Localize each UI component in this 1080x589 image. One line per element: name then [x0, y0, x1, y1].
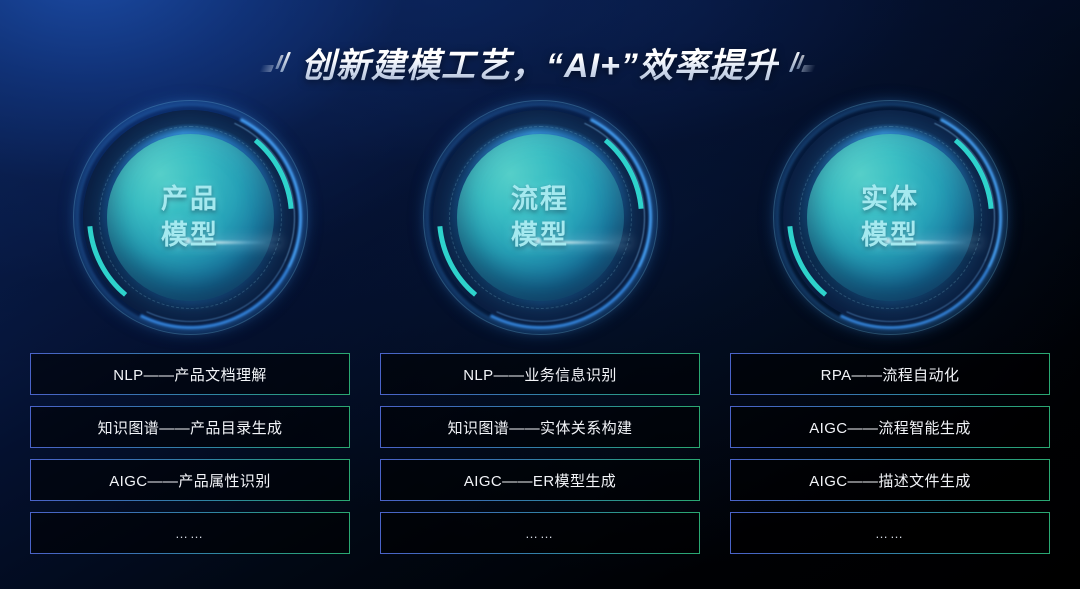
list-item-label: NLP——业务信息识别: [463, 364, 617, 385]
badge-label-line2: 模型: [161, 218, 219, 254]
sphere-process-model: 流程 模型: [457, 134, 624, 301]
list-item-label: NLP——产品文档理解: [113, 364, 267, 385]
list-item-label: 知识图谱——实体关系构建: [448, 417, 633, 438]
list-item-label: ……: [175, 526, 205, 541]
list-item[interactable]: NLP——业务信息识别: [380, 353, 700, 395]
item-list-process-model: NLP——业务信息识别 知识图谱——实体关系构建 AIGC——ER模型生成 ……: [380, 353, 700, 554]
list-item[interactable]: AIGC——产品属性识别: [30, 459, 350, 501]
list-item[interactable]: AIGC——ER模型生成: [380, 459, 700, 501]
list-item-more[interactable]: ……: [30, 512, 350, 554]
list-item-label: AIGC——流程智能生成: [809, 417, 970, 438]
column-product-model: 产品 模型 NLP——产品文档理解 知识图谱——产品目录生成 AIGC——产品属…: [30, 100, 350, 554]
list-item-label: AIGC——ER模型生成: [464, 470, 616, 491]
badge-process-model[interactable]: 流程 模型: [423, 100, 658, 335]
badge-label-line2: 模型: [511, 218, 569, 254]
list-item-label: AIGC——描述文件生成: [809, 470, 970, 491]
page-title: 创新建模工艺，“AI+”效率提升: [301, 38, 779, 87]
title-row: 创新建模工艺，“AI+”效率提升: [0, 34, 1080, 90]
badge-label-line1: 流程: [511, 182, 569, 218]
column-process-model: 流程 模型 NLP——业务信息识别 知识图谱——实体关系构建 AIGC——ER模…: [380, 100, 700, 554]
title-decoration-left-icon: [263, 49, 287, 75]
item-list-product-model: NLP——产品文档理解 知识图谱——产品目录生成 AIGC——产品属性识别 ……: [30, 353, 350, 554]
badge-entity-model[interactable]: 实体 模型: [773, 100, 1008, 335]
list-item[interactable]: AIGC——流程智能生成: [730, 406, 1050, 448]
columns-container: 产品 模型 NLP——产品文档理解 知识图谱——产品目录生成 AIGC——产品属…: [0, 100, 1080, 554]
badge-label-line2: 模型: [861, 218, 919, 254]
list-item[interactable]: RPA——流程自动化: [730, 353, 1050, 395]
list-item-label: RPA——流程自动化: [821, 364, 960, 385]
column-entity-model: 实体 模型 RPA——流程自动化 AIGC——流程智能生成 AIGC——描述文件…: [730, 100, 1050, 554]
list-item[interactable]: 知识图谱——实体关系构建: [380, 406, 700, 448]
title-decoration-right-icon: [793, 49, 817, 75]
list-item[interactable]: NLP——产品文档理解: [30, 353, 350, 395]
badge-product-model[interactable]: 产品 模型: [73, 100, 308, 335]
list-item-more[interactable]: ……: [730, 512, 1050, 554]
list-item-label: 知识图谱——产品目录生成: [98, 417, 283, 438]
list-item[interactable]: AIGC——描述文件生成: [730, 459, 1050, 501]
list-item-label: AIGC——产品属性识别: [109, 470, 270, 491]
slide-canvas: 创新建模工艺，“AI+”效率提升 产品 模型 NLP——产: [0, 0, 1080, 589]
sphere-product-model: 产品 模型: [107, 134, 274, 301]
list-item-label: ……: [525, 526, 555, 541]
sphere-entity-model: 实体 模型: [807, 134, 974, 301]
list-item-label: ……: [875, 526, 905, 541]
list-item-more[interactable]: ……: [380, 512, 700, 554]
item-list-entity-model: RPA——流程自动化 AIGC——流程智能生成 AIGC——描述文件生成 ……: [730, 353, 1050, 554]
list-item[interactable]: 知识图谱——产品目录生成: [30, 406, 350, 448]
badge-label-line1: 产品: [161, 182, 219, 218]
badge-label-line1: 实体: [861, 182, 919, 218]
